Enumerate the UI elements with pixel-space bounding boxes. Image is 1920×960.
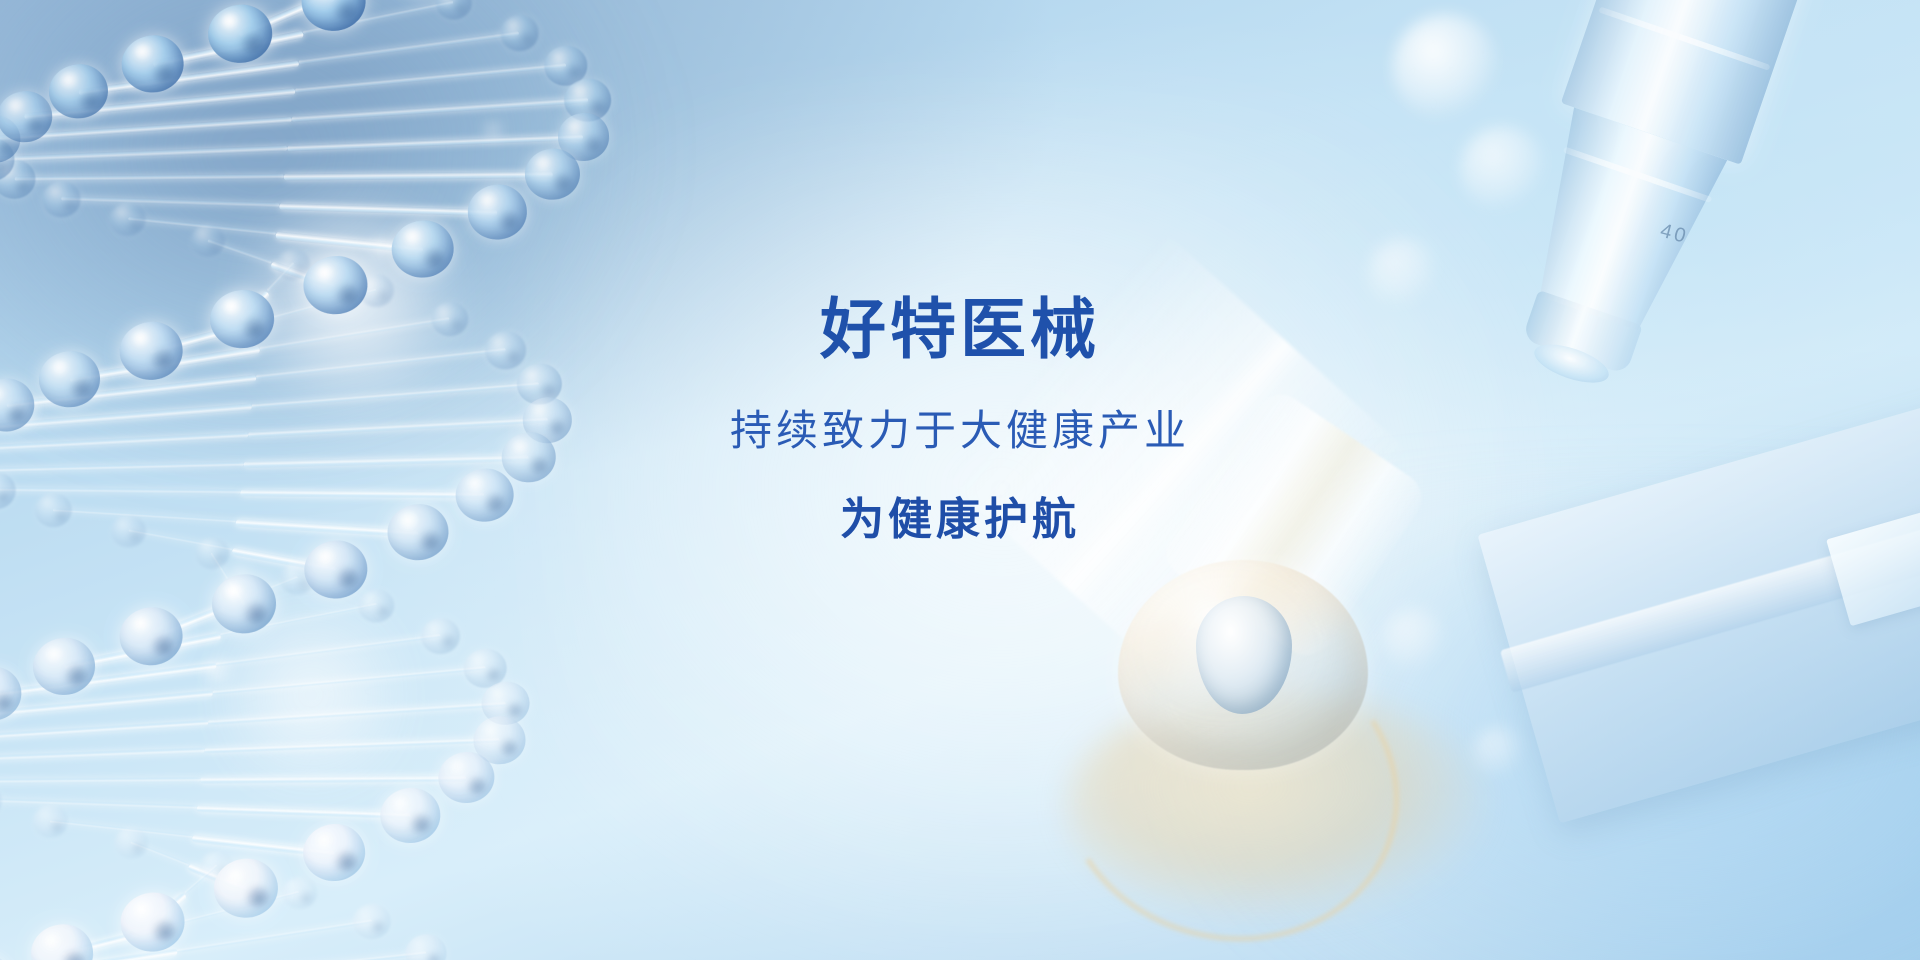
page-subtitle: 持续致力于大健康产业 — [730, 410, 1190, 452]
page-tagline: 为健康护航 — [840, 498, 1080, 542]
hero-copy: 好特医械 持续致力于大健康产业 为健康护航 — [0, 0, 1920, 960]
hero-banner: 40 好特医械 持续致力于大健康产业 为健康护航 — [0, 0, 1920, 960]
page-title: 好特医械 — [820, 296, 1100, 362]
